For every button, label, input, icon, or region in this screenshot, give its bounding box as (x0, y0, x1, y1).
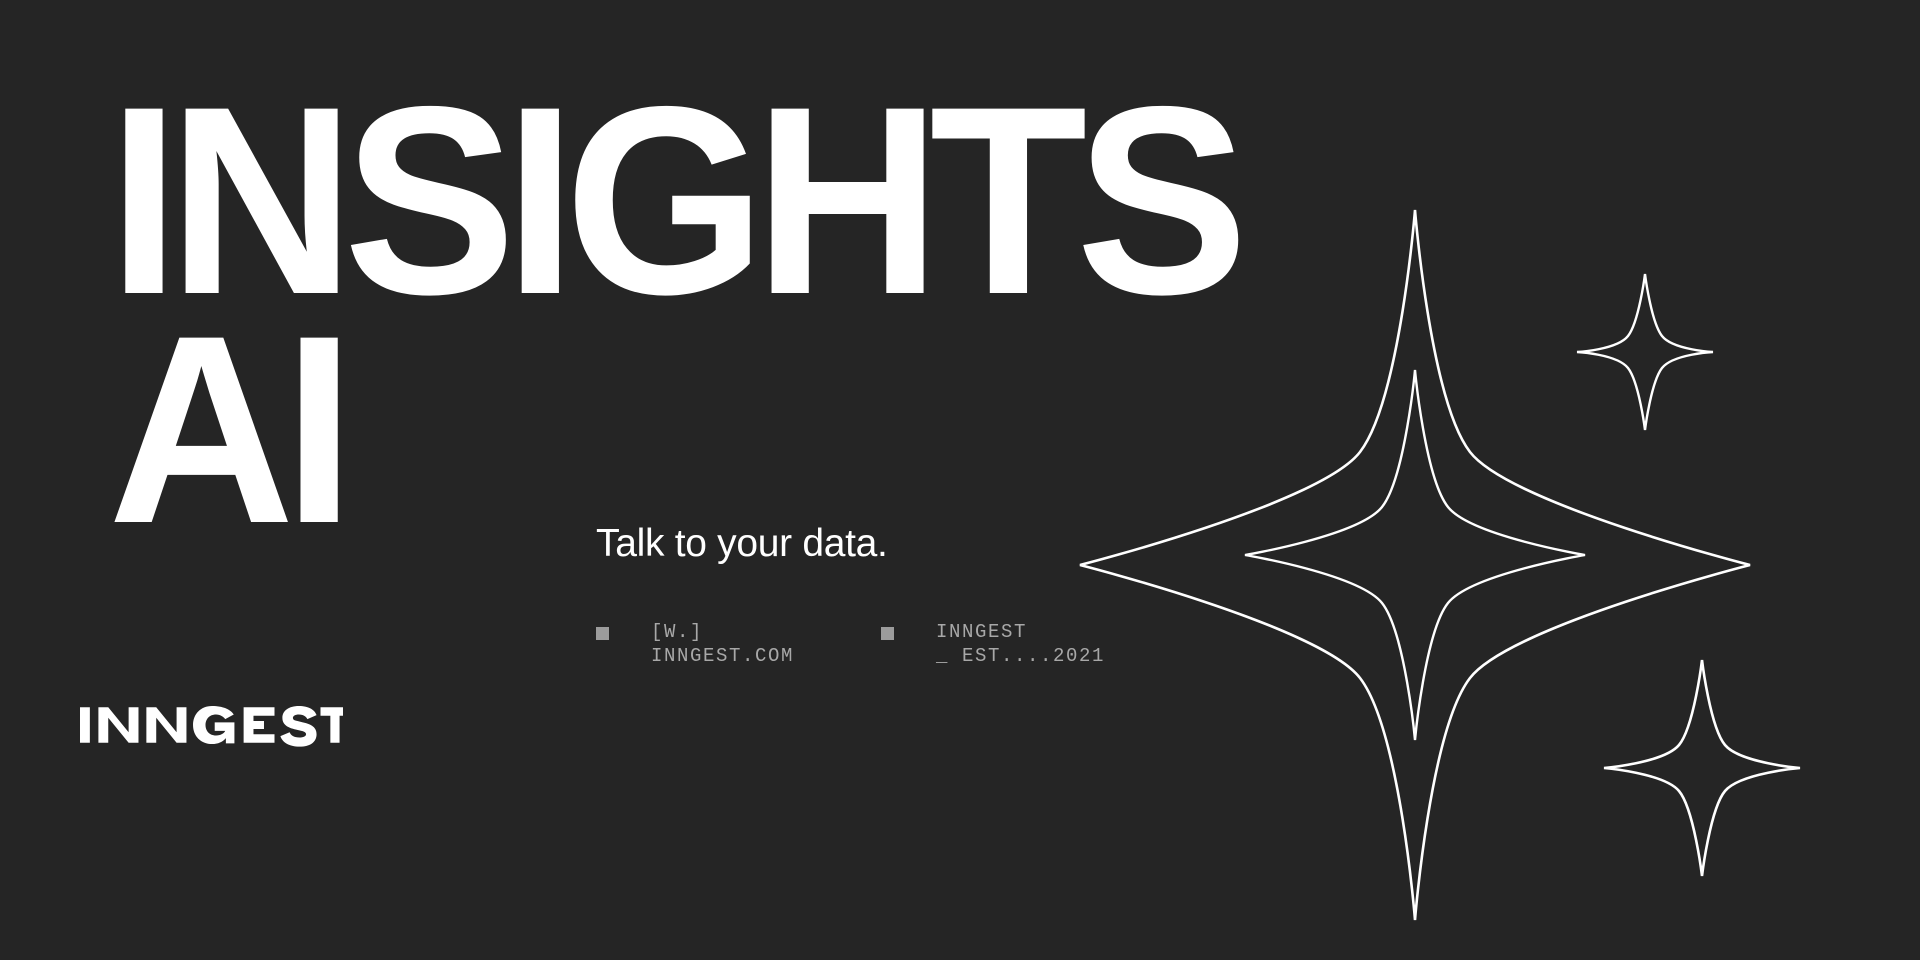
large-star-outer-icon (1080, 210, 1750, 920)
headline-line-1: INSIGHTS (108, 86, 1806, 315)
meta-line-value: _ EST....2021 (936, 644, 1105, 668)
headline-line-2: AI (108, 315, 1806, 544)
small-star-bottom-right-icon (1604, 660, 1800, 876)
star-decoration-group (0, 0, 1920, 960)
small-star-top-right-icon (1577, 274, 1713, 430)
meta-line-label: INNGEST (936, 620, 1105, 644)
meta-group: [W.] INNGEST.COM INNGEST _ EST....2021 (596, 620, 1166, 668)
meta-text-website: [W.] INNGEST.COM (651, 620, 794, 668)
poster-canvas: INSIGHTS AI Talk to your data. [W.] INNG… (0, 0, 1920, 960)
inngest-logo[interactable]: INNGEST (80, 702, 343, 748)
square-bullet-icon (596, 627, 609, 640)
meta-line-value: INNGEST.COM (651, 644, 794, 668)
square-bullet-icon (881, 627, 894, 640)
meta-item-company[interactable]: INNGEST _ EST....2021 (881, 620, 1166, 668)
large-star-inner-icon (1245, 370, 1585, 740)
tagline: Talk to your data. (596, 522, 888, 566)
meta-item-website[interactable]: [W.] INNGEST.COM (596, 620, 881, 668)
page-title: INSIGHTS AI (108, 86, 1868, 544)
meta-text-company: INNGEST _ EST....2021 (936, 620, 1105, 668)
meta-line-label: [W.] (651, 620, 794, 644)
